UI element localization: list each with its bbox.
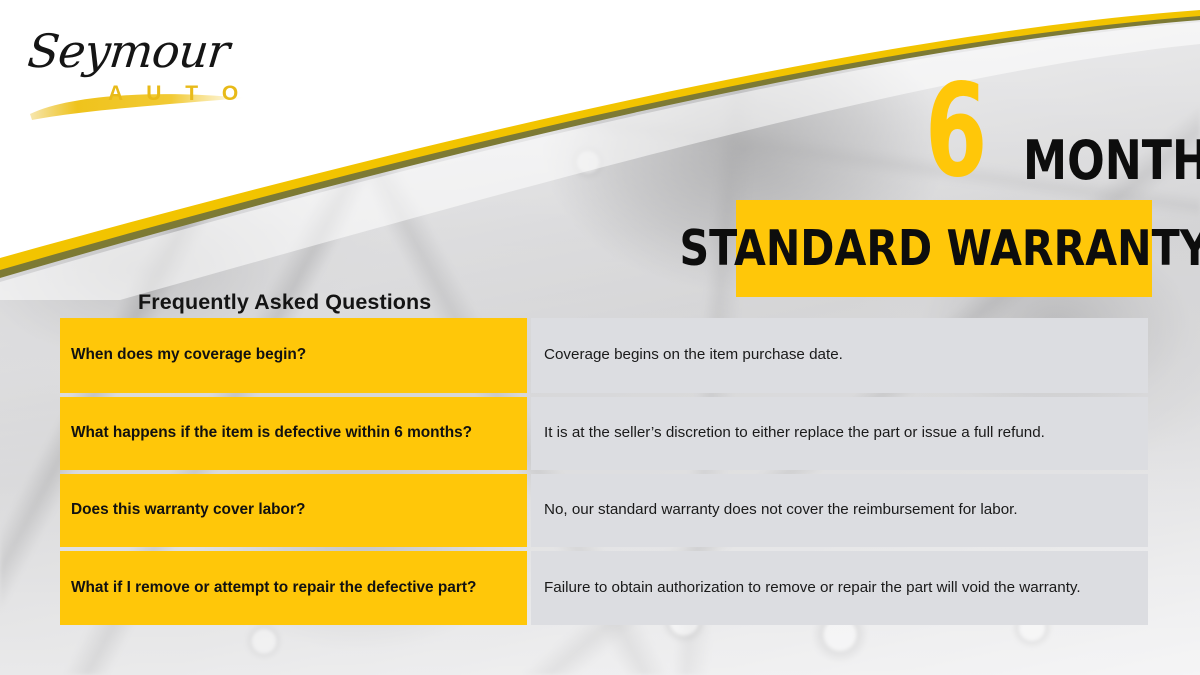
faq-answer-text: It is at the seller’s discretion to eith… — [544, 423, 1135, 444]
standard-warranty-banner: STANDARD WARRANTY — [736, 200, 1152, 297]
faq-answer-text: Failure to obtain authorization to remov… — [544, 578, 1135, 599]
seymour-auto-logo[interactable]: Seymour A U T O — [22, 22, 252, 127]
warranty-duration: 6 MONTH — [925, 78, 1165, 190]
faq-heading: Frequently Asked Questions — [138, 290, 431, 315]
faq-question-cell: When does my coverage begin? — [60, 318, 527, 393]
faq-question-cell: What happens if the item is defective wi… — [60, 397, 527, 470]
warranty-slide: Seymour A U T O 6 MONTH STANDARD WARRANT… — [0, 0, 1200, 675]
faq-answer-text: Coverage begins on the item purchase dat… — [544, 345, 1135, 366]
faq-answer-cell: No, our standard warranty does not cover… — [531, 474, 1148, 547]
faq-table: When does my coverage begin? Coverage be… — [60, 318, 1148, 625]
faq-question-cell: Does this warranty cover labor? — [60, 474, 527, 547]
table-row: When does my coverage begin? Coverage be… — [60, 318, 1148, 393]
logo-script-name: Seymour — [25, 24, 231, 78]
faq-answer-cell: Failure to obtain authorization to remov… — [531, 551, 1148, 625]
faq-answer-text: No, our standard warranty does not cover… — [544, 500, 1135, 521]
duration-number: 6 — [925, 68, 986, 196]
faq-answer-cell: Coverage begins on the item purchase dat… — [531, 318, 1148, 393]
standard-warranty-title: STANDARD WARRANTY — [679, 224, 1200, 273]
table-row: What happens if the item is defective wi… — [60, 397, 1148, 470]
duration-unit: MONTH — [1023, 134, 1200, 188]
faq-answer-cell: It is at the seller’s discretion to eith… — [531, 397, 1148, 470]
table-row: Does this warranty cover labor? No, our … — [60, 474, 1148, 547]
table-row: What if I remove or attempt to repair th… — [60, 551, 1148, 625]
faq-question-cell: What if I remove or attempt to repair th… — [60, 551, 527, 625]
logo-auto-text: A U T O — [108, 82, 247, 106]
